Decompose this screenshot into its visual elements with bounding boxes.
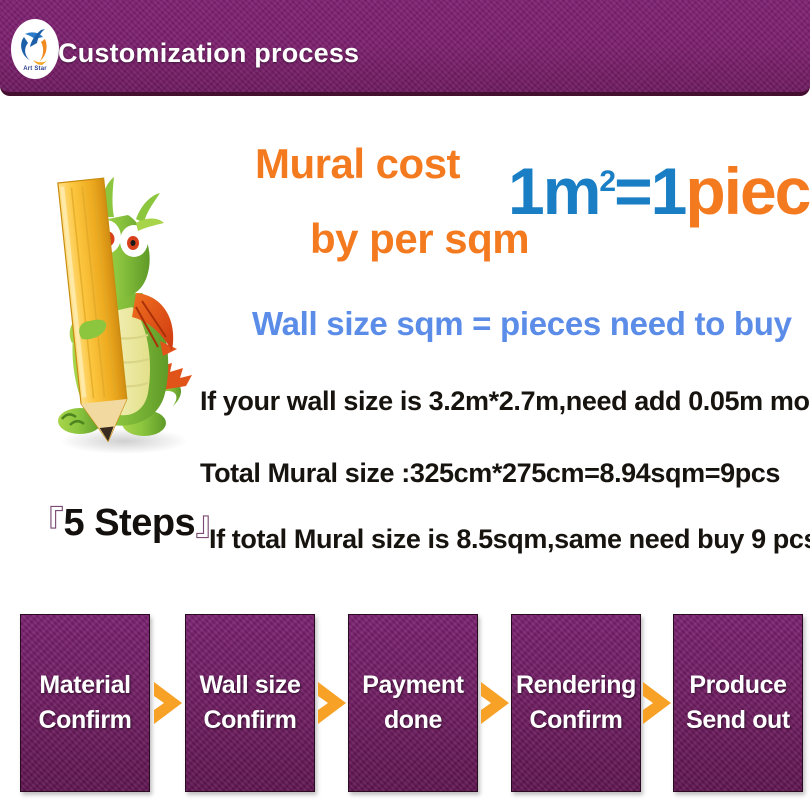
five-steps-label: 『5 Steps』 xyxy=(30,496,229,545)
dragon-pencil-mascot xyxy=(32,145,212,465)
brand-logo: Art Star xyxy=(11,19,59,79)
logo-wordmark: Art Star xyxy=(11,66,59,72)
page-title: Customization process xyxy=(58,38,359,69)
chevron-right-arrow-icon-3 xyxy=(479,680,515,726)
step-box-material-confirm[interactable]: Material Confirm xyxy=(20,614,150,792)
header-bar: Art Star Customization process xyxy=(0,0,810,96)
formula-equals: =1 xyxy=(614,154,685,228)
step-label-line1: Material xyxy=(39,668,130,704)
step-label-line1: Rendering xyxy=(516,668,636,704)
step-box-rendering-confirm[interactable]: Rendering Confirm xyxy=(511,614,641,792)
mural-cost-headline-line1: Mural cost xyxy=(255,140,460,188)
step-box-wall-size-confirm[interactable]: Wall size Confirm xyxy=(185,614,315,792)
chevron-right-arrow-icon-2 xyxy=(316,680,352,726)
formula-right: piece xyxy=(685,154,810,228)
bracket-open-icon: 『 xyxy=(30,505,64,543)
step-label-line2: done xyxy=(384,703,442,739)
step-label-line2: Confirm xyxy=(529,703,622,739)
dragon-with-pencil-icon xyxy=(32,145,212,465)
step-label-line2: Send out xyxy=(686,703,790,739)
step-flow: Material Confirm Wall size Confirm Payme… xyxy=(0,614,810,796)
subheadline: Wall size sqm = pieces need to buy xyxy=(252,305,792,343)
body-line-rounding-note: If total Mural size is 8.5sqm,same need … xyxy=(209,524,810,555)
step-box-payment-done[interactable]: Payment done xyxy=(348,614,478,792)
step-label-line2: Confirm xyxy=(203,703,296,739)
chevron-right-arrow-icon-1 xyxy=(152,680,188,726)
step-label-line2: Confirm xyxy=(38,703,131,739)
five-steps-text: 5 Steps xyxy=(64,502,196,544)
body-line-wall-size: If your wall size is 3.2m*2.7m,need add … xyxy=(200,386,810,417)
bracket-close-icon: 』 xyxy=(195,505,229,543)
price-formula: 1m2=1piece xyxy=(508,158,810,224)
formula-exponent: 2 xyxy=(599,165,614,198)
step-label-line1: Payment xyxy=(362,668,463,704)
formula-left: 1m xyxy=(508,154,599,228)
step-label-line1: Produce xyxy=(689,668,786,704)
chevron-right-arrow-icon-4 xyxy=(641,680,677,726)
mural-cost-headline-line2: by per sqm xyxy=(310,215,529,263)
step-box-produce-send-out[interactable]: Produce Send out xyxy=(673,614,803,792)
step-label-line1: Wall size xyxy=(199,668,300,704)
body-line-total-mural-size: Total Mural size :325cm*275cm=8.94sqm=9p… xyxy=(200,458,780,489)
